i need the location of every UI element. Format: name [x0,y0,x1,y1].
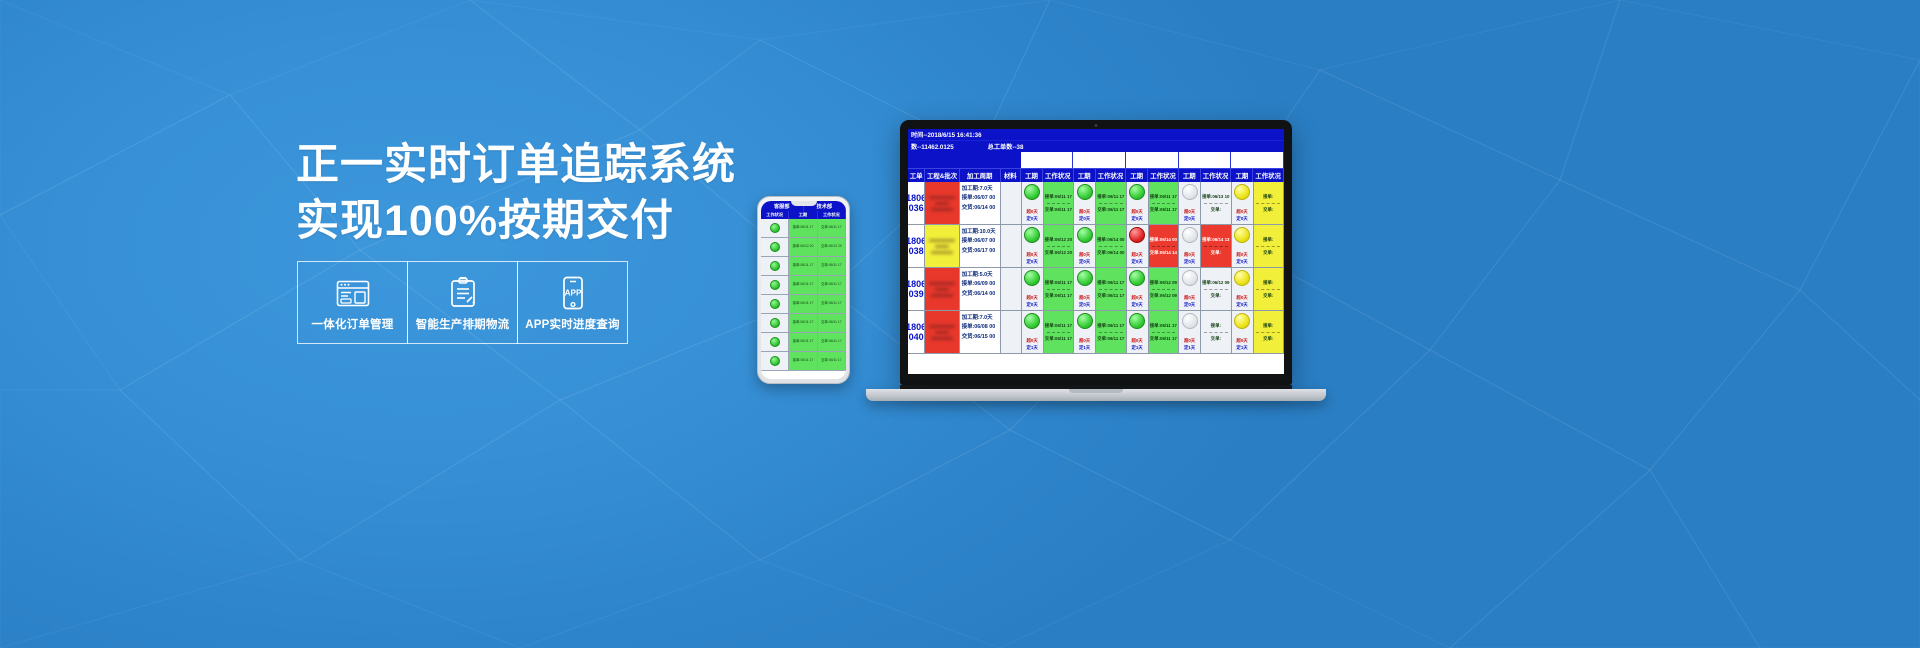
department-header-cell: 技术部 [1073,152,1126,168]
status-lamp-icon[interactable] [1182,184,1198,200]
deliver-time: 交单:06/11 17 [1150,334,1177,344]
scheduled-tag: 定1天 [1026,345,1037,351]
order-id-line-2: 036 [909,203,924,213]
scheduled-tag: 定0天 [1131,259,1142,265]
phone-status-lamp-cell [761,219,789,237]
clipboard-checklist-icon [449,273,477,313]
deliver-time: 交单:06/14 00 [1097,248,1124,258]
column-header-cell[interactable]: 工作状况 [1201,168,1232,182]
deliver-time: 交单:06/11 17 [1045,334,1072,344]
lamp-tag-group: 超0天定0天 [1026,209,1037,222]
scheduled-tag: 定0天 [1184,216,1195,222]
processing-cycle-cell: 加工期:10.0天接单:06/07 00交货:06/17 00 [960,225,1002,267]
status-divider [1099,203,1123,204]
work-status-cell: 接单:06/11 17交单:06/11 17 [1096,311,1127,353]
phone-status-text-cell-2: 交单:06/11 17 [818,352,846,370]
receive-time: 接单:06/14 13 [1202,235,1229,245]
receive-time: 接单:06/11 17 [1097,192,1124,202]
overdue-tag: 超0天 [1184,295,1195,301]
overdue-tag: 超0天 [1236,209,1247,215]
phone-status-text-cell: 接单:06/11 17 [789,314,817,332]
scheduled-tag: 定0天 [1079,302,1090,308]
phone-status-text-cell-2: 交单:06/12 20 [818,238,846,256]
work-period-cell: 超0天定0天 [1022,225,1044,267]
phone-table-row: 接单:06/11 17交单:06/11 17 [761,257,846,276]
column-header-cell[interactable]: 工作状况 [1253,168,1284,182]
overdue-tag: 超0天 [1079,252,1090,258]
status-lamp-icon [770,280,780,290]
status-lamp-icon [770,223,780,233]
scheduled-tag: 定1天 [1184,345,1195,351]
phone-body: 客服部 技术部 工作状况 工期 工作状况 接单:06/11 17交单:06/11… [757,196,850,384]
work-period-cell: 超0天定0天 [1074,182,1096,224]
overdue-tag: 超0天 [1026,252,1037,258]
phone-status-text: 接单:06/11 17 [793,282,814,287]
overdue-tag: 超0天 [1236,252,1247,258]
lamp-tag-group: 超0天定1天 [1184,338,1195,351]
lamp-tag-group: 超2天定0天 [1131,252,1142,265]
phone-column: 工期 [789,211,817,219]
work-status-cell: 接单:交单: [1254,311,1284,353]
phone-status-text: 交单:06/11 17 [821,358,842,363]
material-cell [1001,268,1021,310]
phone-status-text-cell: 接单:06/11 17 [789,257,817,275]
receive-time: 接单:06/14 00 [1150,235,1177,245]
status-lamp-icon[interactable] [1234,227,1250,243]
status-lamp-icon [770,337,780,347]
status-lamp-icon[interactable] [1129,313,1145,329]
column-header-cell[interactable]: 工单 [908,168,925,182]
feature-card-order-management[interactable]: 一体化订单管理 [297,261,408,344]
deliver-time: 交单:06/11 17 [1045,291,1072,301]
phone-mockup: 客服部 技术部 工作状况 工期 工作状况 接单:06/11 17交单:06/11… [757,196,850,384]
cycle-line-3: 交货:06/17 00 [962,247,999,256]
work-period-cell: 超0天定0天 [1232,182,1254,224]
project-batch-cell [925,225,959,267]
receive-time: 接单:06/11 17 [1045,321,1072,331]
status-lamp-icon[interactable] [1024,270,1040,286]
overdue-tag: 超2天 [1131,252,1142,258]
status-divider [1047,246,1071,247]
scheduled-tag: 定0天 [1131,302,1142,308]
phone-status-text-cell-2: 交单:06/11 17 [818,333,846,351]
status-lamp-icon[interactable] [1024,227,1040,243]
receive-time: 接单:06/14 00 [1097,235,1124,245]
work-status-cell: 接单:交单: [1254,268,1284,310]
total-orders-label: 总工单数--38 [988,142,1024,151]
lamp-tag-group: 超0天定0天 [1236,209,1247,222]
receive-time: 接单:06/11 17 [1045,278,1072,288]
phone-status-lamp-cell [761,352,789,370]
work-status-cell: 接单:06/14 13交单: [1201,225,1232,267]
work-period-cell: 超0天定0天 [1127,182,1149,224]
redacted-project-text [925,182,958,224]
hero-copy: 正一实时订单追踪系统 实现100%按期交付 [296,138,716,250]
scheduled-tag: 定0天 [1131,216,1142,222]
department-header-cell: 生产部 [1179,152,1232,168]
status-lamp-icon [770,299,780,309]
work-status-cell: 接单:06/13 10交单: [1201,182,1232,224]
feature-label: APP实时进度查询 [525,316,619,332]
overdue-tag: 超0天 [1026,209,1037,215]
status-lamp-icon[interactable] [1024,313,1040,329]
work-status-cell: 接单:06/11 17交单:06/11 17 [1044,268,1075,310]
cycle-line-1: 加工期:10.0天 [962,228,999,237]
lamp-tag-group: 超0天定0天 [1079,209,1090,222]
status-divider [1256,246,1280,247]
work-period-cell: 超0天定0天 [1022,182,1044,224]
status-divider [1099,246,1123,247]
receive-time: 接单: [1211,321,1221,331]
status-lamp-icon[interactable] [1234,270,1250,286]
phone-status-lamp-cell [761,276,789,294]
lamp-tag-group: 超0天定0天 [1184,295,1195,308]
status-lamp-icon[interactable] [1182,227,1198,243]
work-period-cell: 超0天定1天 [1022,311,1044,353]
lamp-tag-group: 超0天定0天 [1131,209,1142,222]
material-cell [1001,311,1021,353]
feature-card-production-scheduling[interactable]: 智能生产排期物流 [407,261,518,344]
phone-status-text-cell: 接单:06/12 20 [789,238,817,256]
order-id-line-1: 1806 [908,236,925,246]
order-id-cell: 1806036 [908,182,925,224]
scheduled-tag: 定0天 [1026,302,1037,308]
work-status-cell: 接单:06/11 17交单:06/11 17 [1096,268,1127,310]
cycle-line-1: 加工期:7.0天 [962,314,999,323]
phone-table-row: 接单:06/12 20交单:06/12 20 [761,238,846,257]
clock-label: 时间--2018/6/15 16:41:36 [911,130,982,139]
phone-table-row: 接单:06/11 17交单:06/11 17 [761,314,846,333]
lamp-tag-group: 超0天定0天 [1026,295,1037,308]
work-status-cell: 接单:06/11 17交单:06/11 17 [1149,311,1180,353]
work-status-cell: 接单:06/14 00交单:06/14 00 [1096,225,1127,267]
status-lamp-icon[interactable] [1129,227,1145,243]
column-header-cell[interactable]: 工期 [1126,168,1148,182]
scheduled-tag: 定0天 [1184,302,1195,308]
table-row[interactable]: 1806038加工期:10.0天接单:06/07 00交货:06/17 00超0… [908,225,1284,268]
work-status-cell: 接单:06/11 17交单:06/11 17 [1044,182,1075,224]
status-divider [1152,203,1176,204]
work-period-cell: 超0天定0天 [1074,225,1096,267]
column-header-cell[interactable]: 工期 [1021,168,1043,182]
scheduled-tag: 定0天 [1184,259,1195,265]
scheduled-tag: 定0天 [1236,216,1247,222]
work-period-cell: 超0天定0天 [1074,268,1096,310]
receive-time: 接单:06/11 17 [1150,321,1177,331]
work-status-cell: 接单:06/12 20交单:06/12 20 [1044,225,1075,267]
lamp-tag-group: 超0天定0天 [1079,252,1090,265]
deliver-time: 交单:06/12 09 [1150,291,1177,301]
department-header-spacer [908,152,1021,168]
status-lamp-icon[interactable] [1077,184,1093,200]
lamp-tag-group: 超0天定1天 [1236,338,1247,351]
deliver-time: 交单:06/11 17 [1097,334,1124,344]
receive-time: 接单:06/12 09 [1202,278,1229,288]
cycle-line-2: 接单:06/08 00 [962,323,999,332]
feature-list: 一体化订单管理 智能生产排期物流 APP AP [297,261,627,344]
receive-time: 接单: [1263,321,1273,331]
scheduled-tag: 定0天 [1079,259,1090,265]
phone-status-text: 接单:06/11 17 [793,263,814,268]
receive-time: 接单: [1263,192,1273,202]
table-row[interactable]: 1806036加工期:7.0天接单:06/07 00交货:06/14 00超0天… [908,182,1284,225]
phone-screen[interactable]: 客服部 技术部 工作状况 工期 工作状况 接单:06/11 17交单:06/11… [761,201,846,379]
lamp-tag-group: 超0天定0天 [1236,252,1247,265]
laptop-base [866,389,1326,401]
app-icon-text: APP [564,289,581,298]
column-header-cell[interactable]: 工作状况 [1043,168,1074,182]
order-id-cell: 1806040 [908,311,925,353]
redacted-project-text [925,225,958,267]
cycle-line-2: 接单:06/07 00 [962,237,999,246]
status-lamp-icon[interactable] [1077,313,1093,329]
receive-time: 接单:06/11 17 [1097,278,1124,288]
overdue-tag: 超0天 [1131,295,1142,301]
phone-row-list: 接单:06/11 17交单:06/11 17接单:06/12 20交单:06/1… [761,219,846,371]
phone-status-text: 接单:06/11 17 [793,358,814,363]
lamp-tag-group: 超0天定1天 [1079,338,1090,351]
work-status-cell: 接单:06/11 17交单:06/11 17 [1096,182,1127,224]
phone-status-text: 交单:06/12 20 [821,244,842,249]
lamp-tag-group: 超0天定0天 [1184,252,1195,265]
laptop-base-notch [1069,389,1123,393]
phone-table-row: 接单:06/11 17交单:06/11 17 [761,276,846,295]
work-status-cell: 接单:06/11 17交单:06/11 17 [1149,182,1180,224]
deliver-time: 交单: [1263,291,1273,301]
work-status-cell: 接单:交单: [1254,182,1284,224]
column-header-cell[interactable]: 工程&批次 [925,168,959,182]
phone-column: 工作状况 [818,211,846,219]
department-header-cell: 客服部 [1021,152,1074,168]
phone-status-text-cell: 接单:06/11 17 [789,219,817,237]
order-id-line-2: 039 [909,289,924,299]
overdue-tag: 超0天 [1184,209,1195,215]
status-divider [1152,246,1176,247]
status-divider [1047,332,1071,333]
page-title-line-2: 实现100%按期交付 [296,194,716,250]
phone-status-text: 交单:06/11 17 [821,282,842,287]
project-batch-cell [925,311,959,353]
phone-status-text-cell-2: 交单:06/11 17 [818,219,846,237]
project-batch-cell [925,268,959,310]
scheduled-tag: 定1天 [1079,345,1090,351]
work-status-cell: 接单:交单: [1254,225,1284,267]
work-period-cell: 超0天定0天 [1179,268,1201,310]
status-divider [1152,332,1176,333]
deliver-time: 交单: [1211,205,1221,215]
processing-cycle-cell: 加工期:7.0天接单:06/08 00交货:06/15 00 [960,311,1002,353]
lamp-tag-group: 超0天定0天 [1131,295,1142,308]
overdue-tag: 超0天 [1184,252,1195,258]
receive-time: 接单:06/12 20 [1045,235,1072,245]
work-period-cell: 超0天定1天 [1179,311,1201,353]
overdue-tag: 超0天 [1236,338,1247,344]
feature-label: 智能生产排期物流 [416,316,510,332]
status-divider [1256,289,1280,290]
work-period-cell: 超0天定0天 [1232,225,1254,267]
phone-status-text: 交单:06/11 17 [821,339,842,344]
receive-time: 接单:06/13 10 [1202,192,1229,202]
lamp-tag-group: 超0天定1天 [1026,338,1037,351]
phone-status-text: 接单:06/11 17 [793,225,814,230]
receive-time: 接单:06/11 17 [1045,192,1072,202]
screen-title-bar: 时间--2018/6/15 16:41:36 数--11462.0125 总工单… [908,129,1284,152]
phone-status-text: 接单:06/11 17 [793,320,814,325]
receive-time: 接单:06/11 17 [1150,192,1177,202]
overdue-tag: 超0天 [1026,338,1037,344]
status-lamp-icon[interactable] [1129,184,1145,200]
work-status-cell: 接单:06/12 09交单: [1201,268,1232,310]
status-lamp-icon[interactable] [1077,227,1093,243]
status-lamp-icon[interactable] [1234,184,1250,200]
status-lamp-icon[interactable] [1182,270,1198,286]
scheduled-tag: 定0天 [1236,302,1247,308]
status-lamp-icon[interactable] [1077,270,1093,286]
cycle-line-2: 接单:06/09 00 [962,280,999,289]
scheduled-tag: 定0天 [1026,259,1037,265]
deliver-time: 交单:06/11 17 [1045,205,1072,215]
order-table-body: 1806036加工期:7.0天接单:06/07 00交货:06/14 00超0天… [908,182,1284,354]
overdue-tag: 超0天 [1131,209,1142,215]
webcam-icon [1095,124,1098,127]
page-title-line-1: 正一实时订单追踪系统 [296,138,716,194]
order-id-line-2: 038 [909,246,924,256]
status-lamp-icon [770,318,780,328]
deliver-time: 交单:06/11 17 [1097,291,1124,301]
redacted-project-text [925,311,958,353]
work-period-cell: 超0天定1天 [1127,311,1149,353]
scheduled-tag: 定0天 [1079,216,1090,222]
lamp-tag-group: 超0天定1天 [1131,338,1142,351]
status-lamp-icon [770,242,780,252]
order-id-line-2: 040 [909,332,924,342]
phone-status-lamp-cell [761,238,789,256]
laptop-lid: 时间--2018/6/15 16:41:36 数--11462.0125 总工单… [900,120,1292,385]
table-row[interactable]: 1806039加工期:5.0天接单:06/09 00交货:06/14 00超0天… [908,268,1284,311]
phone-status-text-cell-2: 交单:06/11 17 [818,314,846,332]
overdue-tag: 超0天 [1079,295,1090,301]
lamp-tag-group: 超0天定0天 [1079,295,1090,308]
deliver-time: 交单: [1211,248,1221,258]
status-lamp-icon [770,356,780,366]
status-divider [1099,332,1123,333]
column-header-cell[interactable]: 工期 [1074,168,1096,182]
status-lamp-icon[interactable] [1024,184,1040,200]
phone-notch [791,201,817,206]
phone-table-row: 接单:06/11 17交单:06/11 17 [761,295,846,314]
laptop-mockup: 时间--2018/6/15 16:41:36 数--11462.0125 总工单… [866,120,1326,420]
status-lamp-icon [770,261,780,271]
redacted-project-text [925,268,958,310]
phone-status-text-cell-2: 交单:06/11 17 [818,295,846,313]
phone-status-text-cell-2: 交单:06/11 17 [818,276,846,294]
status-divider [1204,203,1228,204]
column-header-cell[interactable]: 工作状况 [1148,168,1179,182]
status-divider [1152,289,1176,290]
status-divider [1047,289,1071,290]
laptop-screen[interactable]: 时间--2018/6/15 16:41:36 数--11462.0125 总工单… [908,129,1284,374]
table-row[interactable]: 1806040加工期:7.0天接单:06/08 00交货:06/15 00超0天… [908,311,1284,354]
phone-status-lamp-cell [761,333,789,351]
receive-time: 接单: [1263,235,1273,245]
column-header-cell[interactable]: 材料 [1001,168,1021,182]
phone-column: 工作状况 [761,211,789,219]
phone-status-text: 接单:06/11 17 [793,339,814,344]
column-header-cell[interactable]: 工期 [1179,168,1201,182]
scheduled-tag: 定0天 [1026,216,1037,222]
phone-table-row: 接单:06/11 17交单:06/11 17 [761,352,846,371]
material-cell [1001,182,1021,224]
order-id-line-1: 1806 [908,279,925,289]
overdue-tag: 超0天 [1026,295,1037,301]
scheduled-tag: 定1天 [1236,345,1247,351]
deliver-time: 交单:06/12 20 [1045,248,1072,258]
status-lamp-icon[interactable] [1234,313,1250,329]
cycle-line-1: 加工期:5.0天 [962,271,999,280]
phone-status-text: 交单:06/11 17 [821,320,842,325]
work-period-cell: 超0天定1天 [1232,311,1254,353]
cycle-line-3: 交货:06/15 00 [962,333,999,342]
department-header-cell: 跟单部 [1231,152,1284,168]
phone-column-header: 工作状况 工期 工作状况 [761,211,846,219]
work-status-cell: 接单:06/11 17交单:06/11 17 [1044,311,1075,353]
deliver-time: 交单: [1263,205,1273,215]
lamp-tag-group: 超0天定0天 [1184,209,1195,222]
phone-status-lamp-cell [761,257,789,275]
work-period-cell: 超0天定0天 [1232,268,1254,310]
column-header-cell[interactable]: 加工周期 [960,168,1001,182]
cycle-line-2: 接单:06/07 00 [962,194,999,203]
deliver-time: 交单:06/14 14 [1150,248,1177,258]
phone-status-text: 交单:06/11 17 [821,301,842,306]
column-header-cell[interactable]: 工期 [1231,168,1253,182]
phone-status-text-cell: 接单:06/11 17 [789,352,817,370]
receive-time: 接单:06/11 17 [1097,321,1124,331]
cycle-line-1: 加工期:7.0天 [962,185,999,194]
status-divider [1099,289,1123,290]
status-lamp-icon[interactable] [1129,270,1145,286]
work-period-cell: 超0天定0天 [1179,225,1201,267]
phone-status-text-cell: 接单:06/11 17 [789,333,817,351]
deliver-time: 交单: [1263,248,1273,258]
phone-status-text: 交单:06/11 17 [821,225,842,230]
phone-status-lamp-cell [761,314,789,332]
deliver-time: 交单: [1211,334,1221,344]
status-divider [1204,246,1228,247]
department-header-cell: 工艺部 [1126,152,1179,168]
feature-card-app-progress-query[interactable]: APP APP实时进度查询 [517,261,628,344]
work-status-cell: 接单:交单: [1201,311,1232,353]
deliver-time: 交单: [1263,334,1273,344]
overdue-tag: 超0天 [1131,338,1142,344]
deliver-time: 交单:06/11 17 [1097,205,1124,215]
status-divider [1204,289,1228,290]
feature-label: 一体化订单管理 [312,316,394,332]
status-lamp-icon[interactable] [1182,313,1198,329]
phone-status-text-cell: 接单:06/11 17 [789,295,817,313]
order-id-cell: 1806039 [908,268,925,310]
phone-status-text-cell: 接单:06/11 17 [789,276,817,294]
receive-time: 接单: [1263,278,1273,288]
work-period-cell: 超0天定0天 [1179,182,1201,224]
phone-status-text: 交单:06/11 17 [821,263,842,268]
column-header-cell[interactable]: 工作状况 [1096,168,1127,182]
processing-cycle-cell: 加工期:7.0天接单:06/07 00交货:06/14 00 [960,182,1002,224]
phone-status-text-cell-2: 交单:06/11 17 [818,257,846,275]
lamp-tag-group: 超0天定0天 [1026,252,1037,265]
order-id-cell: 1806038 [908,225,925,267]
work-status-cell: 接单:06/14 00交单:06/14 14 [1149,225,1180,267]
